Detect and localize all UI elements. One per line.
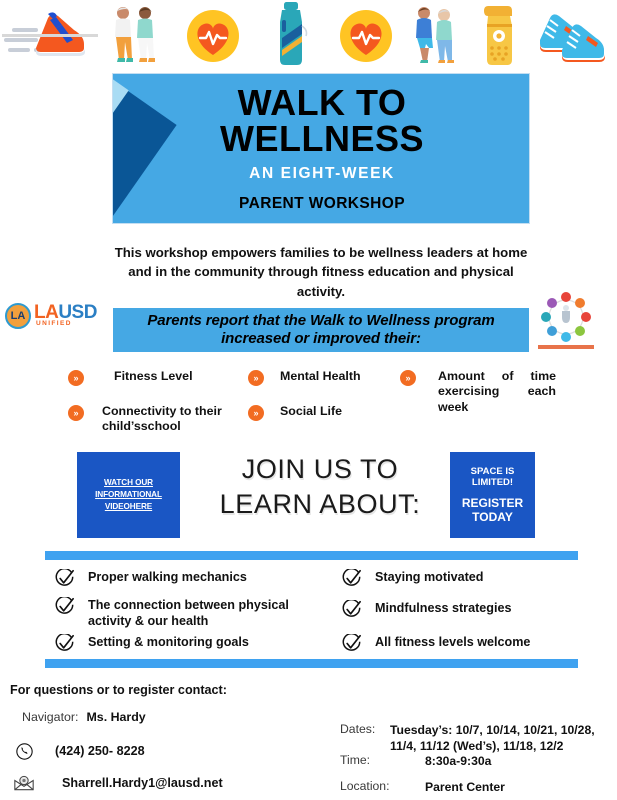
benefit-label: Fitness Level [114, 369, 193, 384]
benefit-item: » Social Life [248, 404, 342, 421]
benefit-label: Amount of time exercising each week [438, 369, 556, 415]
chevron-right-icon: » [248, 370, 264, 386]
navigator-name: Ms. Hardy [86, 710, 145, 724]
location-value: Parent Center [425, 779, 505, 795]
checklist-item: Mindfulness strategies [342, 600, 511, 619]
checklist: Proper walking mechanics The connection … [45, 566, 590, 656]
chevron-right-icon: » [248, 405, 264, 421]
phone-icon [16, 743, 33, 760]
checklist-label: All fitness levels welcome [375, 634, 530, 650]
benefit-item: » Mental Health [248, 369, 361, 386]
contact-heading: For questions or to register contact: [10, 683, 227, 697]
benefit-item: » Amount of time exercising each week [400, 369, 556, 415]
navigator-label: Navigator: [22, 710, 78, 724]
checklist-bottom-rule [45, 659, 578, 668]
watch-video-link[interactable]: WATCH OUR INFORMATIONAL VIDEOHERE [77, 477, 180, 513]
checklist-top-rule [45, 551, 578, 560]
benefit-item: » Fitness Level [68, 369, 193, 386]
dates-label: Dates: [340, 722, 375, 736]
banner-subtitle: AN EIGHT-WEEK [249, 165, 395, 183]
dates-value: Tuesday’s: 10/7, 10/14, 10/21, 10/28, 11… [390, 722, 612, 755]
check-circle-icon [55, 634, 74, 653]
banner-title-line2: WELLNESS [220, 121, 424, 157]
email-icon [14, 775, 34, 791]
chevron-right-icon: » [400, 370, 416, 386]
intro-paragraph: This workshop empowers families to be we… [112, 243, 530, 301]
sneakers-pair-icon [536, 6, 610, 64]
chevron-right-icon: » [68, 405, 84, 421]
checklist-label: The connection between physical activity… [88, 597, 333, 629]
checklist-label: Proper walking mechanics [88, 569, 247, 585]
check-circle-icon [55, 569, 74, 588]
chevron-right-icon: » [68, 370, 84, 386]
benefit-label: Mental Health [280, 369, 361, 384]
join-us-heading: JOIN US TO LEARN ABOUT: [196, 452, 444, 521]
heart-pulse-icon [185, 8, 241, 64]
check-circle-icon [342, 634, 361, 653]
wellness-molecule-logo [540, 291, 592, 343]
checklist-item: Setting & monitoring goals [55, 634, 249, 653]
walking-couple-icon [105, 4, 163, 64]
lausd-underline [2, 34, 98, 37]
join-line-2: LEARN ABOUT: [196, 487, 444, 522]
heart-pulse-icon-2 [338, 8, 394, 64]
parents-report-text: Parents report that the Walk to Wellness… [113, 312, 529, 349]
walking-couple-icon-2 [408, 4, 460, 64]
benefit-label: Connectivity to their child’sschool [102, 404, 252, 435]
time-value: 8:30a-9:30a [425, 753, 491, 769]
watch-video-button[interactable]: WATCH OUR INFORMATIONAL VIDEOHERE [77, 452, 180, 538]
check-circle-icon [55, 597, 74, 616]
benefits-list: » Fitness Level » Connectivity to their … [60, 366, 590, 446]
register-today-button[interactable]: SPACE IS LIMITED! REGISTER TODAY [450, 452, 535, 538]
location-label: Location: [340, 779, 389, 793]
checklist-item: The connection between physical activity… [55, 597, 333, 629]
email-address[interactable]: Sharrell.Hardy1@lausd.net [62, 776, 223, 790]
navigator-row: Navigator:Ms. Hardy [22, 710, 146, 724]
parents-report-bar: Parents report that the Walk to Wellness… [113, 308, 529, 352]
check-circle-icon [342, 569, 361, 588]
lausd-unified-text: UNIFIED [36, 320, 72, 327]
flyer-page: WALK TO WELLNESS AN EIGHT-WEEK PARENT WO… [0, 0, 617, 800]
checklist-item: All fitness levels welcome [342, 634, 530, 653]
join-line-1: JOIN US TO [196, 452, 444, 487]
lausd-seal-icon: LA [5, 303, 31, 329]
yellow-bottle-icon [478, 4, 522, 66]
phone-number[interactable]: (424) 250- 8228 [55, 744, 145, 758]
checklist-label: Staying motivated [375, 569, 483, 585]
benefit-label: Social Life [280, 404, 342, 419]
register-today-text: REGISTER TODAY [450, 496, 535, 525]
checklist-label: Mindfulness strategies [375, 600, 511, 616]
space-limited-text: SPACE IS LIMITED! [450, 466, 535, 489]
checklist-item: Staying motivated [342, 569, 483, 588]
lausd-logo: LA LAUSD UNIFIED [5, 300, 101, 334]
checklist-item: Proper walking mechanics [55, 569, 247, 588]
water-bottle-icon [272, 2, 310, 66]
checklist-label: Setting & monitoring goals [88, 634, 249, 650]
banner-title-line1: WALK TO [238, 85, 407, 121]
time-label: Time: [340, 753, 370, 767]
benefit-item: » Connectivity to their child’sschool [68, 404, 252, 435]
title-banner: WALK TO WELLNESS AN EIGHT-WEEK PARENT WO… [112, 73, 530, 224]
banner-subtitle-2: PARENT WORKSHOP [239, 195, 405, 213]
molecule-underline [538, 345, 594, 349]
check-circle-icon [342, 600, 361, 619]
